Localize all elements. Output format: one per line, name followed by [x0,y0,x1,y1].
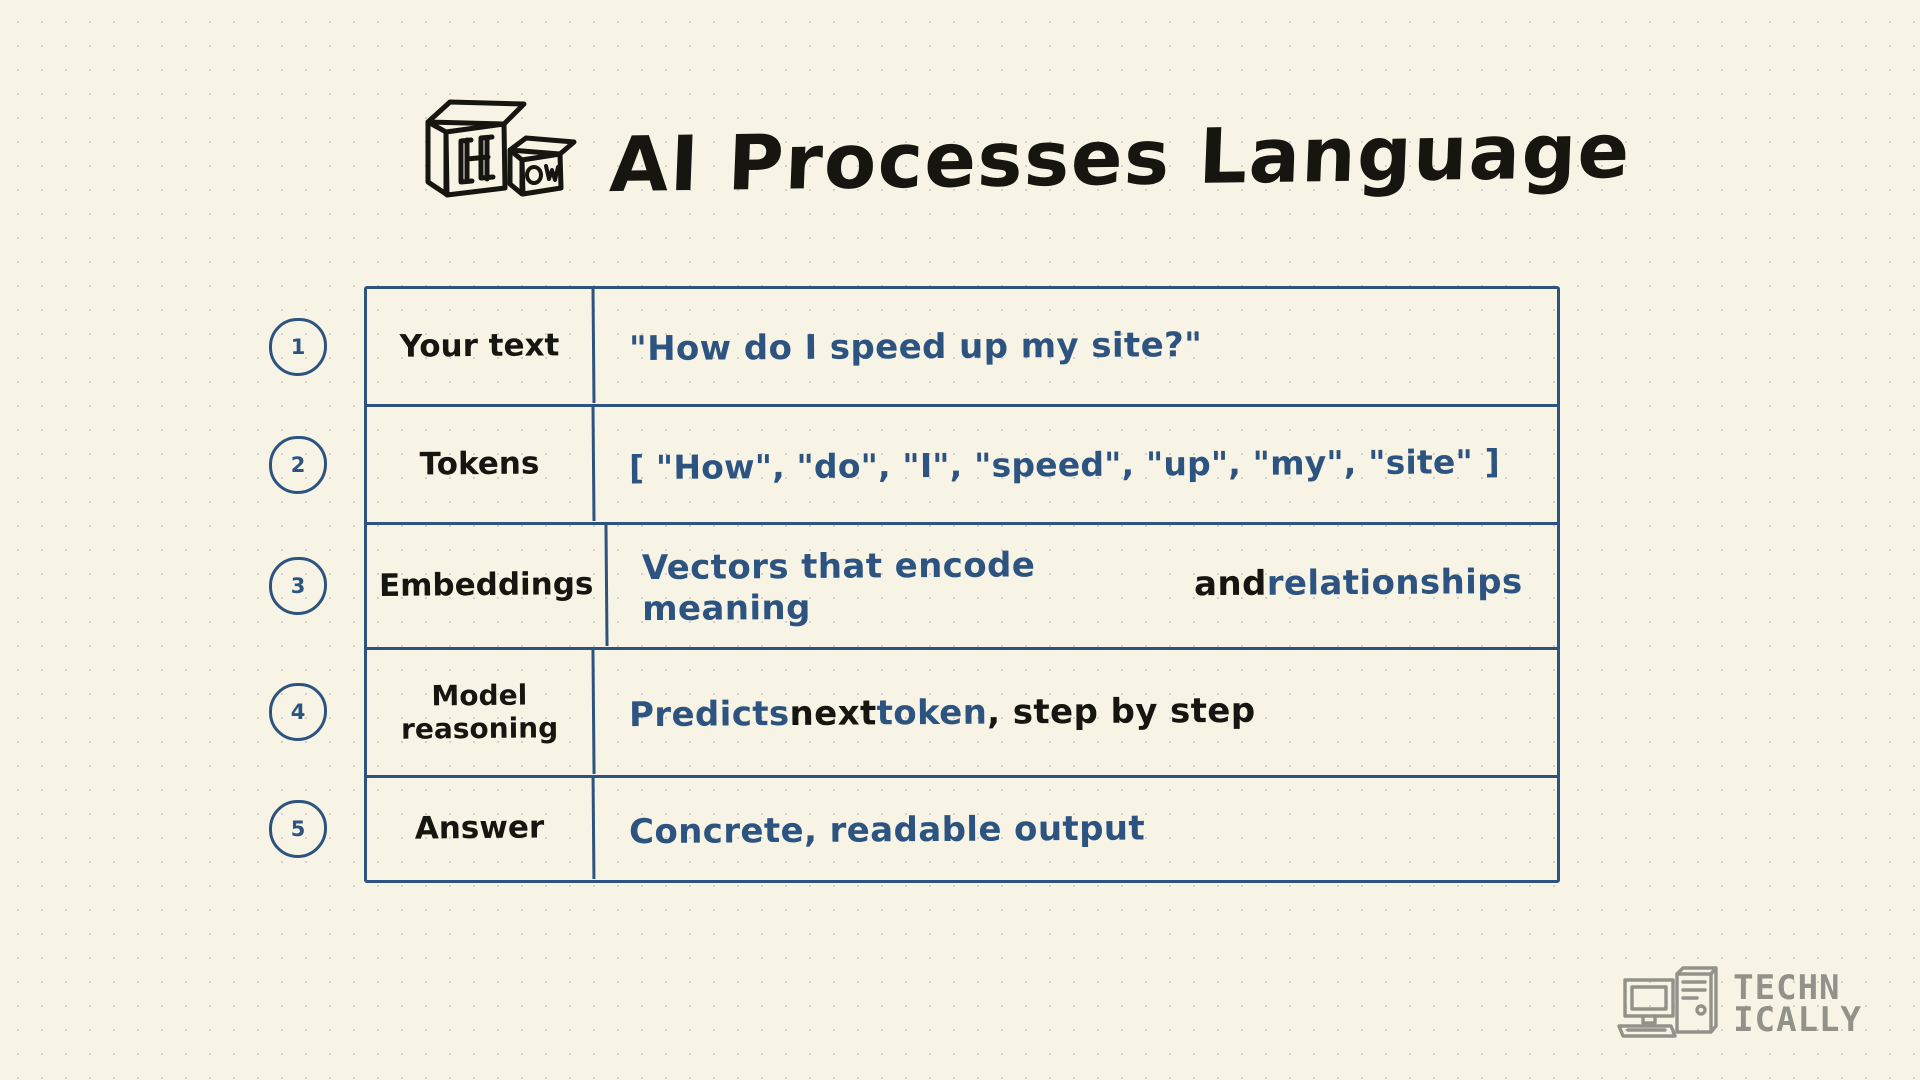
pipeline-table: 1 Your text "How do I speed up my site?"… [364,286,1560,883]
retro-computer-icon [1615,966,1719,1044]
row-number-badge: 4 [269,683,327,741]
row-value-segment: Concrete, readable output [629,808,1145,852]
table-row: 5 Answer Concrete, readable output [367,778,1557,880]
row-value: Predicts next token , step by step [595,646,1558,778]
table-row: 2 Tokens [ "How", "do", "I", "speed", "u… [367,407,1557,525]
table-row: 1 Your text "How do I speed up my site?" [367,289,1557,407]
row-label-line-1: Model [431,679,527,712]
row-value: [ "How", "do", "I", "speed", "up", "my",… [595,404,1558,526]
page-header: AI Processes Language [420,96,1630,200]
row-value-segment: next [789,693,876,734]
row-number-badge: 5 [269,800,327,858]
row-value-segment: , step by step [987,690,1256,733]
table-row: 4 Model reasoning Predicts next token , … [367,650,1557,778]
row-label-line-2: reasoning [401,711,558,745]
row-value-segment: [ "How", "do", "I", "speed", "up", "my",… [629,442,1500,488]
row-label: Tokens [367,406,596,523]
brand-wordmark: TECHN ICALLY [1733,973,1862,1036]
brand-wordmark-line-2: ICALLY [1733,1005,1862,1037]
row-value: Vectors that encode meaning and relation… [608,522,1557,650]
row-value-segment: token [877,692,988,734]
row-number-badge: 2 [269,436,327,494]
page-title: AI Processes Language [608,113,1632,207]
row-value-segment: and [1194,564,1267,605]
row-label: Your text [367,288,596,405]
how-blocks-icon [420,96,588,200]
brand-watermark: TECHN ICALLY [1615,966,1862,1044]
row-value-segment: Predicts [629,694,790,736]
row-number-badge: 1 [269,318,327,376]
row-number-badge: 3 [269,557,327,615]
row-label: Answer [367,777,596,881]
row-value: Concrete, readable output [595,774,1558,883]
row-value: "How do I speed up my site?" [595,286,1558,408]
row-value-segment: "How do I speed up my site?" [629,325,1203,370]
row-value-segment: Vectors that encode meaning [642,544,1195,629]
table-row: 3 Embeddings Vectors that encode meaning… [367,525,1557,650]
row-label: Model reasoning [366,649,595,776]
row-value-segment: relationships [1267,562,1523,605]
row-label: Embeddings [366,524,608,648]
